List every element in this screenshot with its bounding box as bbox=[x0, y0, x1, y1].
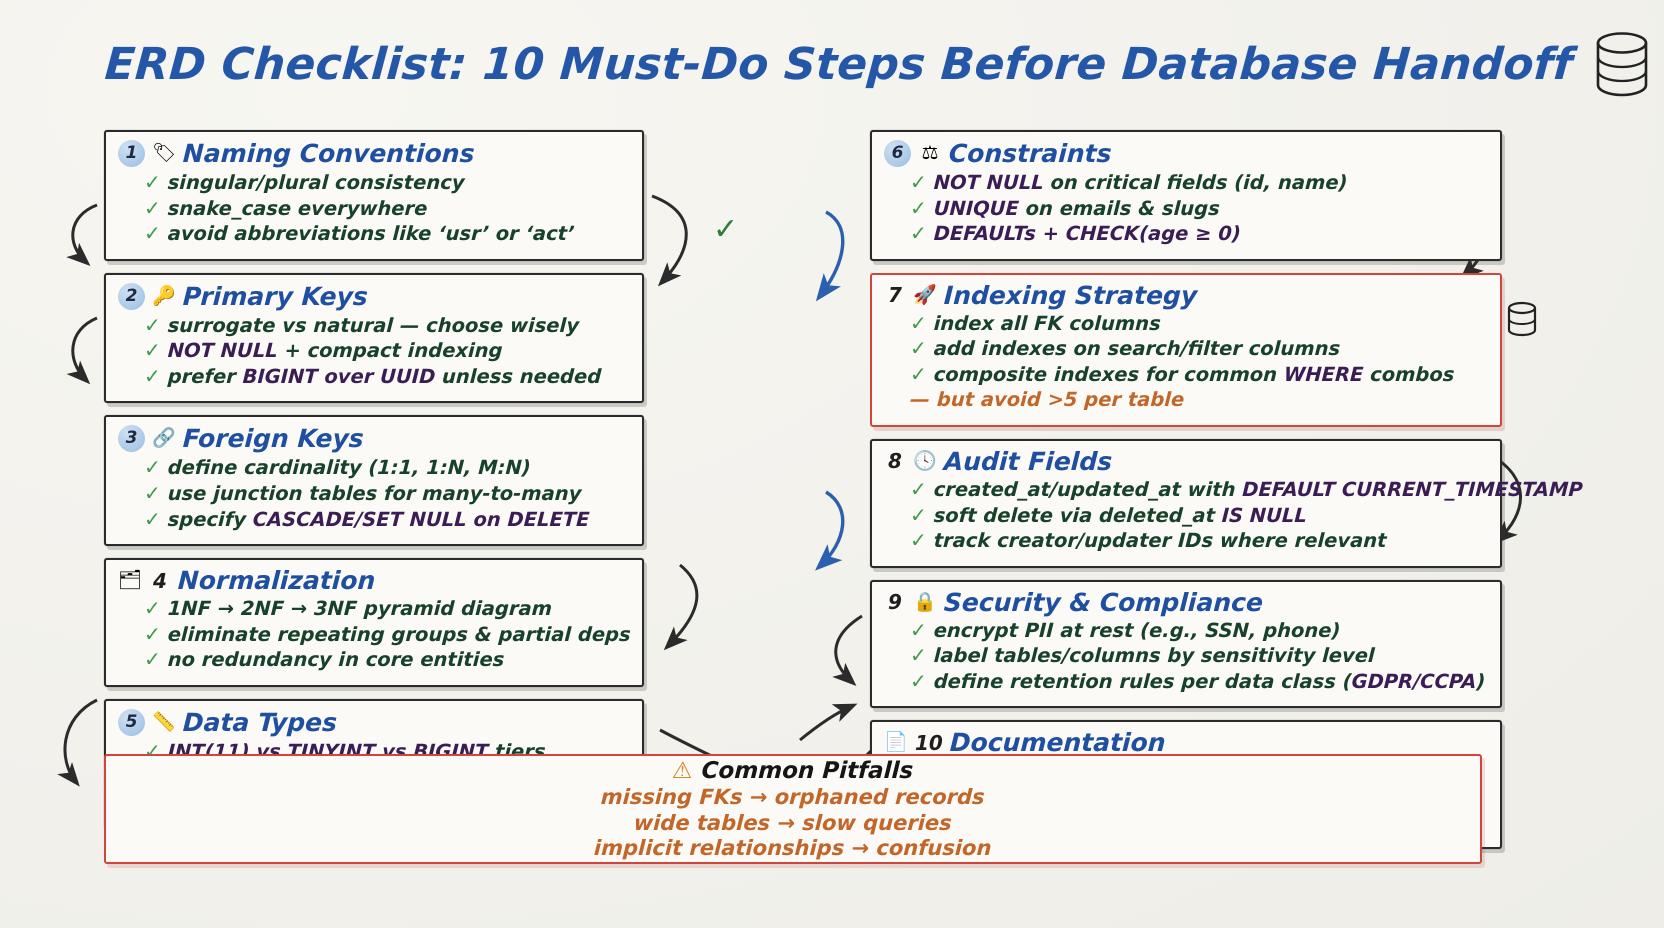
checklist-bullet: ✓define retention rules per data class (… bbox=[909, 669, 1488, 695]
checklist-bullet: ✓label tables/columns by sensitivity lev… bbox=[909, 643, 1488, 669]
bullet-text: no redundancy in core entities bbox=[167, 648, 505, 673]
checklist-bullet: ✓eliminate repeating groups & partial de… bbox=[143, 622, 630, 648]
card-title: Documentation bbox=[949, 730, 1166, 755]
bullet-list: ✓NOT NULL on critical fields (id, name)✓… bbox=[910, 170, 1488, 247]
checklist-bullet: —but avoid >5 per table bbox=[909, 387, 1488, 413]
card-header: 9🔒Security & Compliance bbox=[884, 590, 1488, 615]
step-number: 9 bbox=[884, 592, 906, 612]
checklist-card[interactable]: 8🕓Audit Fields✓created_at/updated_at wit… bbox=[870, 439, 1502, 568]
bullet-text: surrogate vs natural — choose wisely bbox=[167, 314, 580, 339]
check-icon: ✓ bbox=[144, 170, 161, 195]
step-number: 5 bbox=[118, 709, 145, 736]
bullet-list: ✓created_at/updated_at with DEFAULT CURR… bbox=[910, 477, 1488, 554]
pitfall-line: missing FKs → orphaned records bbox=[594, 785, 993, 811]
checklist-bullet: ✓created_at/updated_at with DEFAULT CURR… bbox=[909, 477, 1488, 503]
check-icon: ✓ bbox=[144, 196, 161, 221]
bullet-text: singular/plural consistency bbox=[167, 171, 465, 196]
bullet-list: ✓encrypt PII at rest (e.g., SSN, phone)✓… bbox=[910, 618, 1488, 695]
checklist-card[interactable]: 🗂4Normalization✓1NF → 2NF → 3NF pyramid … bbox=[104, 558, 644, 687]
check-icon: ✓ bbox=[910, 221, 927, 246]
checklist-card[interactable]: 2🔑Primary Keys✓surrogate vs natural — ch… bbox=[104, 273, 644, 404]
document-page-icon: 📄 bbox=[884, 733, 908, 752]
check-icon: ✓ bbox=[144, 481, 161, 506]
card-header: 7🚀Indexing Strategy bbox=[884, 283, 1488, 308]
whiteboard-canvas: ERD Checklist: 10 Must-Do Steps Before D… bbox=[0, 0, 1664, 928]
dash-marker: — bbox=[909, 387, 930, 412]
check-icon: ✓ bbox=[910, 503, 927, 528]
bullet-text: encrypt PII at rest (e.g., SSN, phone) bbox=[933, 619, 1341, 644]
card-header: 1🏷Naming Conventions bbox=[118, 140, 630, 167]
bullet-text: composite indexes for common WHERE combo… bbox=[933, 363, 1455, 388]
card-header: 3🔗Foreign Keys bbox=[118, 425, 630, 452]
check-icon: ✓ bbox=[910, 669, 927, 694]
bullet-text: avoid abbreviations like ‘usr’ or ‘act’ bbox=[167, 222, 575, 247]
checklist-bullet: ✓soft delete via deleted_at IS NULL bbox=[909, 503, 1488, 529]
bullet-text: define cardinality (1:1, 1:N, M:N) bbox=[167, 456, 531, 481]
step-number: 7 bbox=[884, 285, 906, 305]
check-icon: ✓ bbox=[910, 311, 927, 336]
bullet-text: NOT NULL + compact indexing bbox=[167, 339, 503, 364]
bullet-text: soft delete via deleted_at IS NULL bbox=[933, 504, 1307, 529]
bullet-list: ✓singular/plural consistency✓snake_case … bbox=[144, 170, 630, 247]
bullet-text: add indexes on search/filter columns bbox=[933, 337, 1341, 362]
step-number: 2 bbox=[118, 283, 145, 310]
step-number: 3 bbox=[118, 425, 145, 452]
bullet-text: index all FK columns bbox=[933, 312, 1161, 337]
bullet-text: but avoid >5 per table bbox=[936, 388, 1185, 413]
checklist-card[interactable]: 7🚀Indexing Strategy✓index all FK columns… bbox=[870, 273, 1502, 427]
check-icon: ✓ bbox=[144, 647, 161, 672]
bullet-list: ✓surrogate vs natural — choose wisely✓NO… bbox=[144, 313, 630, 390]
checklist-bullet: ✓avoid abbreviations like ‘usr’ or ‘act’ bbox=[143, 221, 630, 247]
card-header: 📄10Documentation bbox=[884, 730, 1488, 755]
checklist-bullet: ✓surrogate vs natural — choose wisely bbox=[143, 313, 630, 339]
card-title: Naming Conventions bbox=[182, 141, 475, 166]
bullet-text: eliminate repeating groups & partial dep… bbox=[167, 623, 631, 648]
checklist-bullet: ✓snake_case everywhere bbox=[143, 196, 630, 222]
check-icon: ✓ bbox=[144, 455, 161, 480]
sql-keyword: DEFAULT CURRENT_TIMESTAMP bbox=[1242, 478, 1584, 501]
clock-icon: 🕓 bbox=[913, 452, 937, 471]
bullet-text: prefer BIGINT over UUID unless needed bbox=[167, 365, 602, 390]
checklist-card[interactable]: 9🔒Security & Compliance✓encrypt PII at r… bbox=[870, 580, 1502, 709]
checklist-bullet: ✓add indexes on search/filter columns bbox=[909, 336, 1488, 362]
approval-check-icon: ✓ bbox=[713, 212, 738, 247]
page-title-text: ERD Checklist: 10 Must-Do Steps Before D… bbox=[103, 39, 1574, 90]
card-title: Foreign Keys bbox=[182, 426, 364, 451]
bullet-text: 1NF → 2NF → 3NF pyramid diagram bbox=[167, 597, 553, 622]
checklist-bullet: ✓track creator/updater IDs where relevan… bbox=[909, 528, 1488, 554]
checklist-bullet: ✓no redundancy in core entities bbox=[143, 647, 630, 673]
step-number: 6 bbox=[884, 140, 911, 167]
check-icon: ✓ bbox=[910, 336, 927, 361]
card-header: 8🕓Audit Fields bbox=[884, 449, 1488, 474]
bullet-text: track creator/updater IDs where relevant bbox=[933, 529, 1387, 554]
pitfall-line: implicit relationships → confusion bbox=[594, 836, 993, 862]
pitfalls-title-text: Common Pitfalls bbox=[701, 758, 914, 784]
checklist-bullet: ✓NOT NULL + compact indexing bbox=[143, 338, 630, 364]
sql-keyword: UNIQUE bbox=[933, 197, 1019, 220]
bullet-text: use junction tables for many-to-many bbox=[167, 482, 582, 507]
sql-keyword: GDPR/CCPA bbox=[1351, 670, 1477, 693]
bookmark-tag-icon: 🏷 bbox=[152, 144, 176, 163]
card-title: Indexing Strategy bbox=[943, 283, 1198, 308]
check-icon: ✓ bbox=[144, 313, 161, 338]
step-number: 10 bbox=[915, 733, 943, 753]
step-number: 4 bbox=[149, 571, 171, 591]
check-icon: ✓ bbox=[910, 196, 927, 221]
check-icon: ✓ bbox=[910, 170, 927, 195]
sql-keyword: IS NULL bbox=[1221, 504, 1307, 527]
check-icon: ✓ bbox=[144, 596, 161, 621]
bullet-list: ✓define cardinality (1:1, 1:N, M:N)✓use … bbox=[144, 455, 630, 532]
checklist-bullet: ✓1NF → 2NF → 3NF pyramid diagram bbox=[143, 596, 630, 622]
card-header: 2🔑Primary Keys bbox=[118, 283, 630, 310]
check-icon: ✓ bbox=[910, 643, 927, 668]
checklist-column-right: 6⚖Constraints✓NOT NULL on critical field… bbox=[870, 130, 1502, 861]
card-title: Primary Keys bbox=[182, 284, 368, 309]
checklist-bullet: ✓encrypt PII at rest (e.g., SSN, phone) bbox=[909, 618, 1488, 644]
pitfall-line: wide tables → slow queries bbox=[594, 811, 993, 837]
step-number: 1 bbox=[118, 140, 145, 167]
card-title: Audit Fields bbox=[943, 449, 1113, 474]
link-chain-icon: 🔗 bbox=[152, 429, 176, 448]
layers-stack-icon: 🗂 bbox=[118, 571, 142, 590]
checklist-card[interactable]: 6⚖Constraints✓NOT NULL on critical field… bbox=[870, 130, 1502, 261]
key-icon: 🔑 bbox=[152, 287, 176, 306]
checklist-bullet: ✓use junction tables for many-to-many bbox=[143, 481, 630, 507]
checklist-card[interactable]: 3🔗Foreign Keys✓define cardinality (1:1, … bbox=[104, 415, 644, 546]
checklist-bullet: ✓index all FK columns bbox=[909, 311, 1488, 337]
step-number: 8 bbox=[884, 451, 906, 471]
check-icon: ✓ bbox=[144, 364, 161, 389]
sql-keyword: CASCADE/SET NULL on DELETE bbox=[252, 508, 590, 531]
bullet-text: NOT NULL on critical fields (id, name) bbox=[933, 171, 1348, 196]
card-title: Security & Compliance bbox=[943, 590, 1263, 615]
balance-scale-icon: ⚖ bbox=[918, 144, 942, 163]
checklist-bullet: ✓prefer BIGINT over UUID unless needed bbox=[143, 364, 630, 390]
checklist-bullet: ✓singular/plural consistency bbox=[143, 170, 630, 196]
pitfalls-title: ⚠ Common Pitfalls bbox=[672, 758, 915, 784]
lock-icon: 🔒 bbox=[913, 593, 937, 612]
sql-keyword: BIGINT over UUID bbox=[242, 365, 436, 388]
bullet-text: define retention rules per data class (G… bbox=[933, 670, 1486, 695]
check-icon: ✓ bbox=[144, 221, 161, 246]
bullet-text: UNIQUE on emails & slugs bbox=[933, 197, 1220, 222]
checklist-bullet: ✓NOT NULL on critical fields (id, name) bbox=[909, 170, 1488, 196]
checklist-bullet: ✓DEFAULTs + CHECK(age ≥ 0) bbox=[909, 221, 1488, 247]
bullet-text: DEFAULTs + CHECK(age ≥ 0) bbox=[933, 222, 1241, 247]
warning-triangle-icon: ⚠ bbox=[672, 758, 694, 784]
checklist-bullet: ✓define cardinality (1:1, 1:N, M:N) bbox=[143, 455, 630, 481]
card-header: 🗂4Normalization bbox=[118, 568, 630, 593]
rocket-icon: 🚀 bbox=[913, 286, 937, 305]
checklist-column-left: 1🏷Naming Conventions✓singular/plural con… bbox=[104, 130, 644, 841]
database-icon bbox=[1591, 30, 1653, 98]
check-icon: ✓ bbox=[910, 362, 927, 387]
checklist-bullet: ✓specify CASCADE/SET NULL on DELETE bbox=[143, 507, 630, 533]
bullet-list: ✓index all FK columns✓add indexes on sea… bbox=[910, 311, 1488, 413]
check-icon: ✓ bbox=[144, 507, 161, 532]
check-icon: ✓ bbox=[910, 477, 927, 502]
bullet-list: ✓1NF → 2NF → 3NF pyramid diagram✓elimina… bbox=[144, 596, 630, 673]
ruler-icon: 📏 bbox=[152, 713, 176, 732]
check-icon: ✓ bbox=[144, 338, 161, 363]
sql-keyword: WHERE bbox=[1283, 363, 1364, 386]
checklist-bullet: ✓composite indexes for common WHERE comb… bbox=[909, 362, 1488, 388]
card-title: Constraints bbox=[948, 141, 1112, 166]
bullet-text: label tables/columns by sensitivity leve… bbox=[933, 644, 1375, 669]
checklist-card[interactable]: 1🏷Naming Conventions✓singular/plural con… bbox=[104, 130, 644, 261]
card-title: Normalization bbox=[177, 568, 376, 593]
check-icon: ✓ bbox=[144, 622, 161, 647]
page-title: ERD Checklist: 10 Must-Do Steps Before D… bbox=[105, 30, 1653, 98]
common-pitfalls-panel: ⚠ Common Pitfalls missing FKs → orphaned… bbox=[104, 754, 1482, 864]
sql-keyword: NOT NULL bbox=[933, 171, 1044, 194]
sql-keyword: DEFAULTs + CHECK(age ≥ 0) bbox=[933, 222, 1241, 245]
bullet-text: created_at/updated_at with DEFAULT CURRE… bbox=[933, 478, 1583, 503]
sql-keyword: NOT NULL bbox=[167, 339, 278, 362]
bullet-text: specify CASCADE/SET NULL on DELETE bbox=[167, 508, 590, 533]
card-title: Data Types bbox=[182, 710, 337, 735]
check-icon: ✓ bbox=[910, 528, 927, 553]
bullet-text: snake_case everywhere bbox=[167, 197, 428, 222]
checklist-bullet: ✓UNIQUE on emails & slugs bbox=[909, 196, 1488, 222]
check-icon: ✓ bbox=[910, 618, 927, 643]
card-header: 6⚖Constraints bbox=[884, 140, 1488, 167]
card-header: 5📏Data Types bbox=[118, 709, 630, 736]
